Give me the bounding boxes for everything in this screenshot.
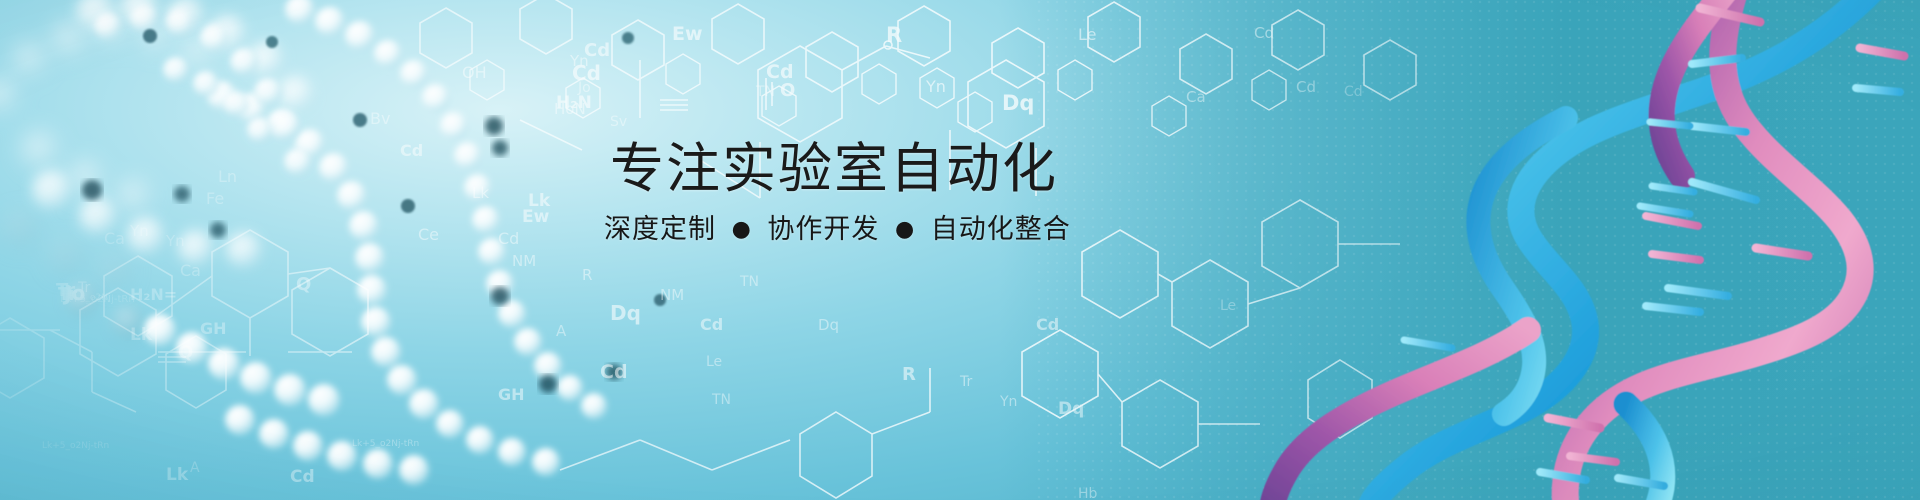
subtitle-part-3: 自动化整合 [931, 214, 1071, 245]
hero-subtitle: 深度定制 ● 协作开发 ● 自动化整合 [604, 214, 1064, 246]
bullet-separator-icon: ● [889, 217, 921, 242]
page-title: 专注实验室自动化 [604, 140, 1064, 198]
subtitle-part-2: 协作开发 [767, 214, 879, 245]
subtitle-part-1: 深度定制 [604, 214, 716, 245]
background-vignette [0, 0, 1920, 500]
bullet-separator-icon: ● [726, 217, 758, 242]
hero-text-block: 专注实验室自动化 深度定制 ● 协作开发 ● 自动化整合 [604, 140, 1064, 247]
hero-banner: Cd Ew Yn Cd R Dq Yn O H₂N OH Le Cd Ca Cd… [0, 0, 1920, 500]
